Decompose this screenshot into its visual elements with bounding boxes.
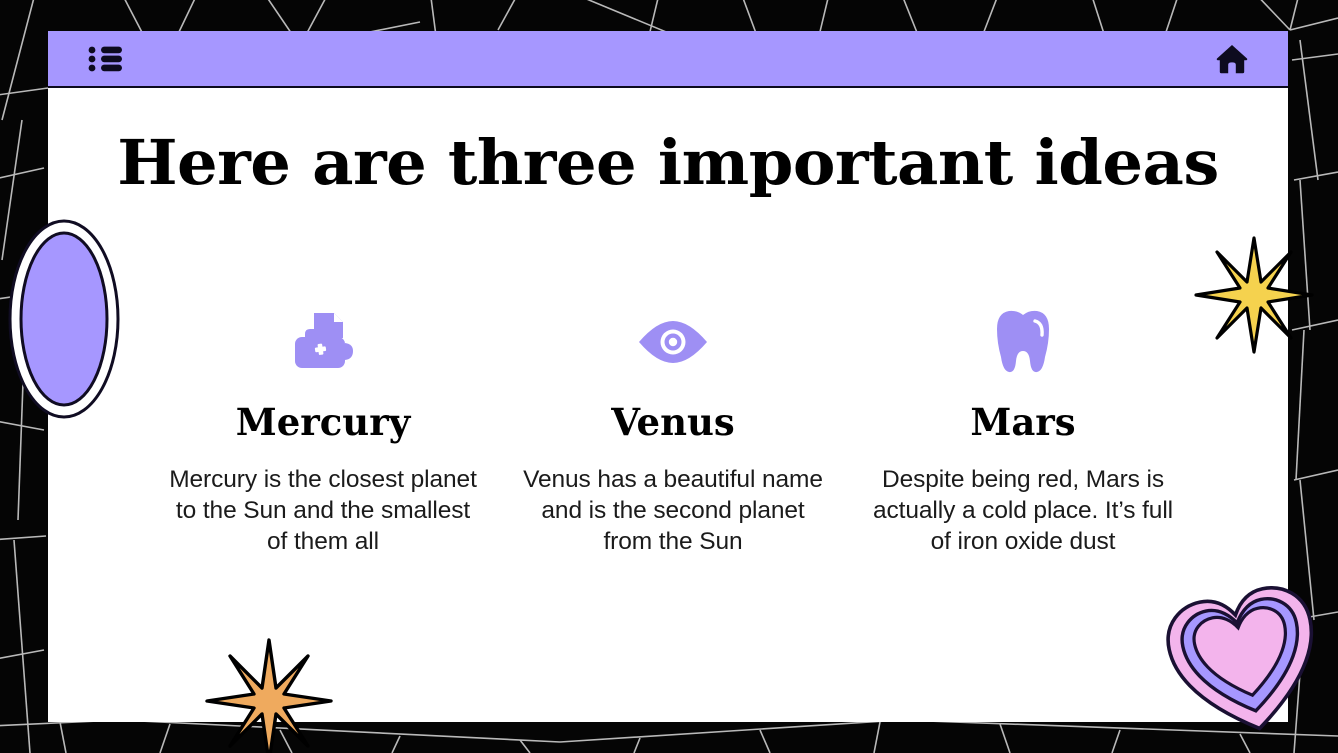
column-title: Mars	[970, 400, 1075, 444]
column-venus: Venus Venus has a beautiful name and is …	[518, 306, 828, 557]
eye-icon	[637, 306, 709, 378]
tooth-icon	[995, 306, 1051, 378]
list-menu-icon	[88, 46, 122, 72]
three-column-list: Mercury Mercury is the closest planet to…	[168, 306, 1178, 557]
menu-button[interactable]	[84, 42, 126, 76]
column-body: Despite being red, Mars is actually a co…	[868, 464, 1178, 557]
home-button[interactable]	[1212, 40, 1252, 78]
column-mars: Mars Despite being red, Mars is actually…	[868, 306, 1178, 557]
column-title: Mercury	[236, 400, 410, 444]
column-body: Mercury is the closest planet to the Sun…	[168, 464, 478, 557]
slide-surface: Here are three important ideas Merc	[48, 31, 1288, 722]
column-body: Venus has a beautiful name and is the se…	[518, 464, 828, 557]
column-mercury: Mercury Mercury is the closest planet to…	[168, 306, 478, 557]
slide-toolbar	[48, 31, 1288, 88]
medical-bag-icon	[290, 306, 356, 378]
home-icon	[1216, 44, 1248, 74]
page-title: Here are three important ideas	[48, 126, 1288, 199]
column-title: Venus	[611, 400, 734, 444]
presentation-canvas: Here are three important ideas Merc	[0, 0, 1338, 753]
